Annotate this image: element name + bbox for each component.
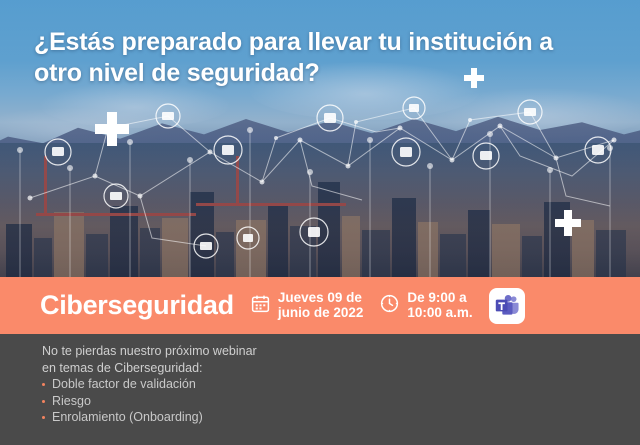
topic-list: Doble factor de validación Riesgo Enrola… [42, 376, 317, 426]
event-time: De 9:00 a 10:00 a.m. [379, 291, 472, 320]
webinar-intro-line-2: en temas de Ciberseguridad: [42, 360, 317, 377]
clock-icon [379, 293, 400, 319]
hero-banner: ¿Estás preparado para llevar tu instituc… [0, 0, 640, 278]
list-item: Doble factor de validación [42, 376, 317, 393]
webinar-intro-line-1: No te pierdas nuestro próximo webinar [42, 343, 317, 360]
page-title: ¿Estás preparado para llevar tu instituc… [34, 27, 604, 89]
list-item: Riesgo [42, 393, 317, 410]
event-time-text: De 9:00 a 10:00 a.m. [407, 291, 472, 320]
microsoft-teams-icon[interactable] [489, 288, 525, 324]
calendar-icon [250, 293, 271, 319]
webinar-topics-block: No te pierdas nuestro próximo webinar en… [42, 343, 317, 426]
event-topic-title: Ciberseguridad [40, 290, 234, 321]
footer-section: No te pierdas nuestro próximo webinar en… [0, 334, 640, 445]
event-date: Jueves 09 de junio de 2022 [250, 291, 364, 320]
list-item: Enrolamiento (Onboarding) [42, 409, 317, 426]
event-info-band: Ciberseguridad Jueves 09 de junio de 202… [0, 277, 640, 334]
event-date-text: Jueves 09 de junio de 2022 [278, 291, 364, 320]
webinar-poster: ¿Estás preparado para llevar tu instituc… [0, 0, 640, 445]
plus-icon [95, 112, 129, 146]
plus-icon [555, 210, 581, 236]
